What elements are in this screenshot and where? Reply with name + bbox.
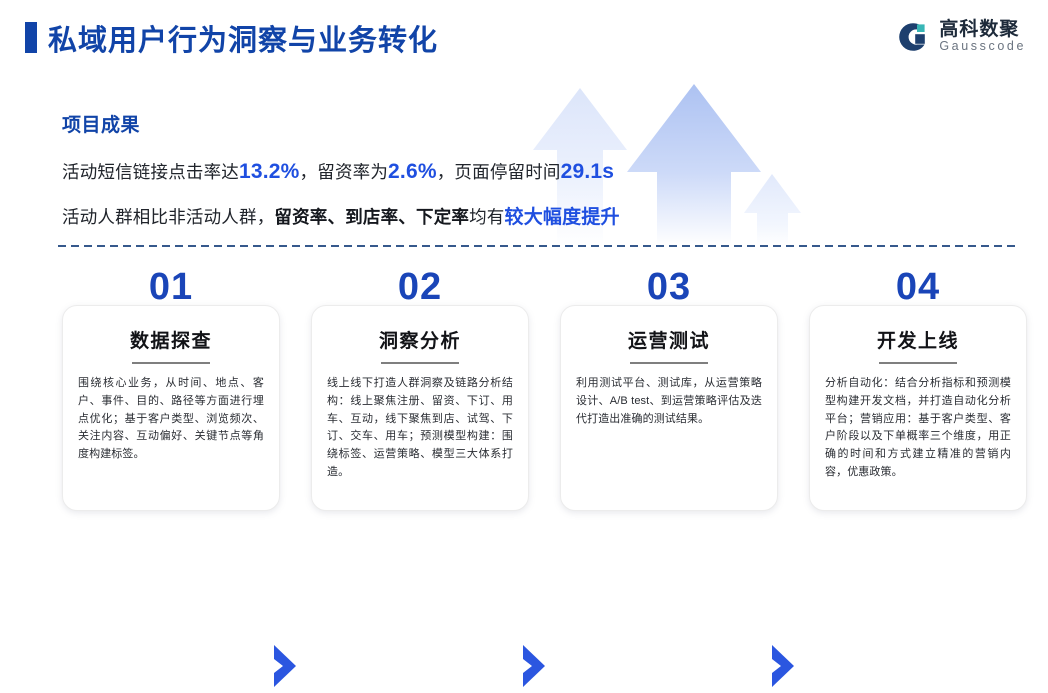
brand-logo: 高科数聚 Gausscode bbox=[896, 20, 1026, 54]
metric-click-rate: 13.2% bbox=[239, 160, 300, 183]
step-number-2: 02 bbox=[311, 268, 529, 308]
step-number-4: 04 bbox=[809, 268, 1027, 308]
chevron-right-icon-2 bbox=[521, 644, 547, 688]
chevron-right-icon-1 bbox=[272, 644, 298, 688]
results-heading: 项目成果 bbox=[62, 110, 762, 137]
results-line1-part1: 活动短信链接点击率达 bbox=[62, 162, 239, 182]
project-results-section: 项目成果 活动短信链接点击率达13.2%，留资率为2.6%，页面停留时间29.1… bbox=[62, 110, 762, 247]
step-card-body-1[interactable]: 数据探查 围绕核心业务，从时间、地点、客户、事件、目的、路径等方面进行埋点优化；… bbox=[62, 305, 280, 511]
step-title-4: 开发上线 bbox=[825, 326, 1011, 353]
logo-name-en: Gausscode bbox=[939, 40, 1026, 53]
step-title-1: 数据探查 bbox=[78, 326, 264, 353]
step-rule-3 bbox=[630, 362, 708, 364]
title-accent-bar bbox=[25, 22, 37, 53]
logo-wordmark: 高科数聚 Gausscode bbox=[939, 20, 1026, 53]
step-description-3: 利用测试平台、测试库，从运营策略设计、A/B test、到运营策略评估及迭代打造… bbox=[576, 375, 762, 428]
step-description-1: 围绕核心业务，从时间、地点、客户、事件、目的、路径等方面进行埋点优化；基于客户类… bbox=[78, 375, 264, 464]
gausscode-logo-icon bbox=[896, 20, 930, 54]
logo-name-cn: 高科数聚 bbox=[939, 20, 1026, 40]
results-line2-part1: 活动人群相比非活动人群， bbox=[62, 207, 274, 227]
results-line2-highlight: 较大幅度提升 bbox=[505, 207, 620, 228]
step-card-body-3[interactable]: 运营测试 利用测试平台、测试库，从运营策略设计、A/B test、到运营策略评估… bbox=[560, 305, 778, 511]
results-line-2: 活动人群相比非活动人群，留资率、到店率、下定率均有较大幅度提升 bbox=[62, 202, 762, 229]
step-rule-4 bbox=[879, 362, 957, 364]
process-steps: 01 数据探查 围绕核心业务，从时间、地点、客户、事件、目的、路径等方面进行埋点… bbox=[0, 268, 1048, 528]
step-description-2: 线上线下打造人群洞察及链路分析结构：线上聚焦注册、留资、下订、用车、互动，线下聚… bbox=[327, 375, 513, 482]
step-rule-1 bbox=[132, 362, 210, 364]
slide-header: 私域用户行为洞察与业务转化 高科数聚 Gausscode bbox=[0, 0, 1048, 78]
page-title: 私域用户行为洞察与业务转化 bbox=[48, 17, 438, 59]
step-card-body-2[interactable]: 洞察分析 线上线下打造人群洞察及链路分析结构：线上聚焦注册、留资、下订、用车、互… bbox=[311, 305, 529, 511]
metric-dwell-time: 29.1s bbox=[561, 160, 615, 183]
step-number-1: 01 bbox=[62, 268, 280, 308]
step-card-2[interactable]: 02 洞察分析 线上线下打造人群洞察及链路分析结构：线上聚焦注册、留资、下订、用… bbox=[311, 268, 529, 511]
step-card-4[interactable]: 04 开发上线 分析自动化：结合分析指标和预测模型构建开发文档，并打造自动化分析… bbox=[809, 268, 1027, 511]
results-line1-part3: ，页面停留时间 bbox=[437, 162, 561, 182]
step-card-body-4[interactable]: 开发上线 分析自动化：结合分析指标和预测模型构建开发文档，并打造自动化分析平台；… bbox=[809, 305, 1027, 511]
results-line-1: 活动短信链接点击率达13.2%，留资率为2.6%，页面停留时间29.1s bbox=[62, 159, 762, 184]
step-card-3[interactable]: 03 运营测试 利用测试平台、测试库，从运营策略设计、A/B test、到运营策… bbox=[560, 268, 778, 511]
step-description-4: 分析自动化：结合分析指标和预测模型构建开发文档，并打造自动化分析平台；营销应用：… bbox=[825, 375, 1011, 482]
metric-lead-rate: 2.6% bbox=[388, 160, 437, 183]
section-divider bbox=[58, 245, 1018, 247]
step-title-2: 洞察分析 bbox=[327, 326, 513, 353]
step-number-3: 03 bbox=[560, 268, 778, 308]
results-line1-part2: ，留资率为 bbox=[300, 162, 389, 182]
step-card-1[interactable]: 01 数据探查 围绕核心业务，从时间、地点、客户、事件、目的、路径等方面进行埋点… bbox=[62, 268, 280, 511]
step-rule-2 bbox=[381, 362, 459, 364]
results-line2-bold: 留资率、到店率、下定率 bbox=[274, 207, 469, 227]
chevron-right-icon-3 bbox=[770, 644, 796, 688]
results-line2-part2: 均有 bbox=[469, 207, 504, 227]
step-title-3: 运营测试 bbox=[576, 326, 762, 353]
